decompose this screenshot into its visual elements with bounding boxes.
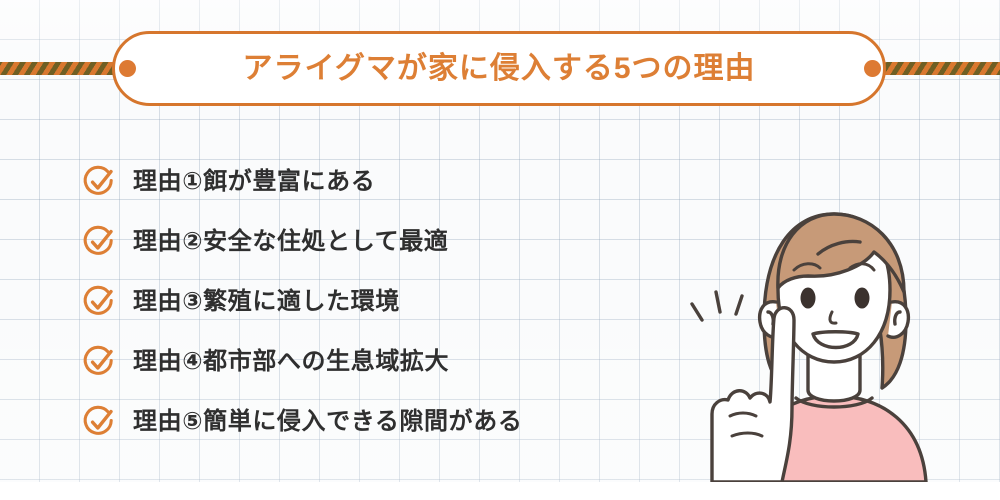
list-item-label: 理由⑤簡単に侵入できる隙間がある xyxy=(133,410,522,434)
reasons-checklist: 理由①餌が豊富にある 理由②安全な住処として最適 理由③繁殖に適した環境 理由④… xyxy=(82,152,682,452)
list-item: 理由②安全な住処として最適 xyxy=(82,212,682,272)
list-item-label: 理由③繁殖に適した環境 xyxy=(133,290,400,314)
check-circle-icon xyxy=(82,165,116,199)
list-item-label: 理由②安全な住処として最適 xyxy=(133,230,448,254)
list-item: 理由③繁殖に適した環境 xyxy=(82,272,682,332)
list-item-label: 理由①餌が豊富にある xyxy=(133,170,375,194)
right-eye xyxy=(855,288,870,309)
list-item: 理由①餌が豊富にある xyxy=(82,152,682,212)
rope-left-decoration xyxy=(0,62,130,75)
list-item: 理由④都市部への生息域拡大 xyxy=(82,332,682,392)
list-item: 理由⑤簡単に侵入できる隙間がある xyxy=(82,392,682,452)
check-circle-icon xyxy=(82,405,116,439)
rope-dot-right-icon xyxy=(864,60,881,77)
slide-canvas: アライグマが家に侵入する5つの理由 理由①餌が豊富にある 理由②安全な住処として… xyxy=(0,0,1000,500)
sparkle-3 xyxy=(736,296,742,314)
title-banner: アライグマが家に侵入する5つの理由 xyxy=(112,31,886,106)
list-item-label: 理由④都市部への生息域拡大 xyxy=(133,350,449,374)
rope-right-decoration xyxy=(872,62,1000,75)
check-circle-icon xyxy=(82,345,116,379)
check-circle-icon xyxy=(82,285,116,319)
sparkle-2 xyxy=(716,292,720,312)
check-circle-icon xyxy=(82,225,116,259)
woman-pointing-illustration xyxy=(668,192,1000,482)
page-title: アライグマが家に侵入する5つの理由 xyxy=(242,54,755,84)
hand-pointing xyxy=(712,308,794,482)
sparkle-1 xyxy=(692,304,702,320)
rope-dot-left-icon xyxy=(119,60,136,77)
left-eye xyxy=(801,288,816,309)
bottom-white-strip xyxy=(0,482,1000,500)
